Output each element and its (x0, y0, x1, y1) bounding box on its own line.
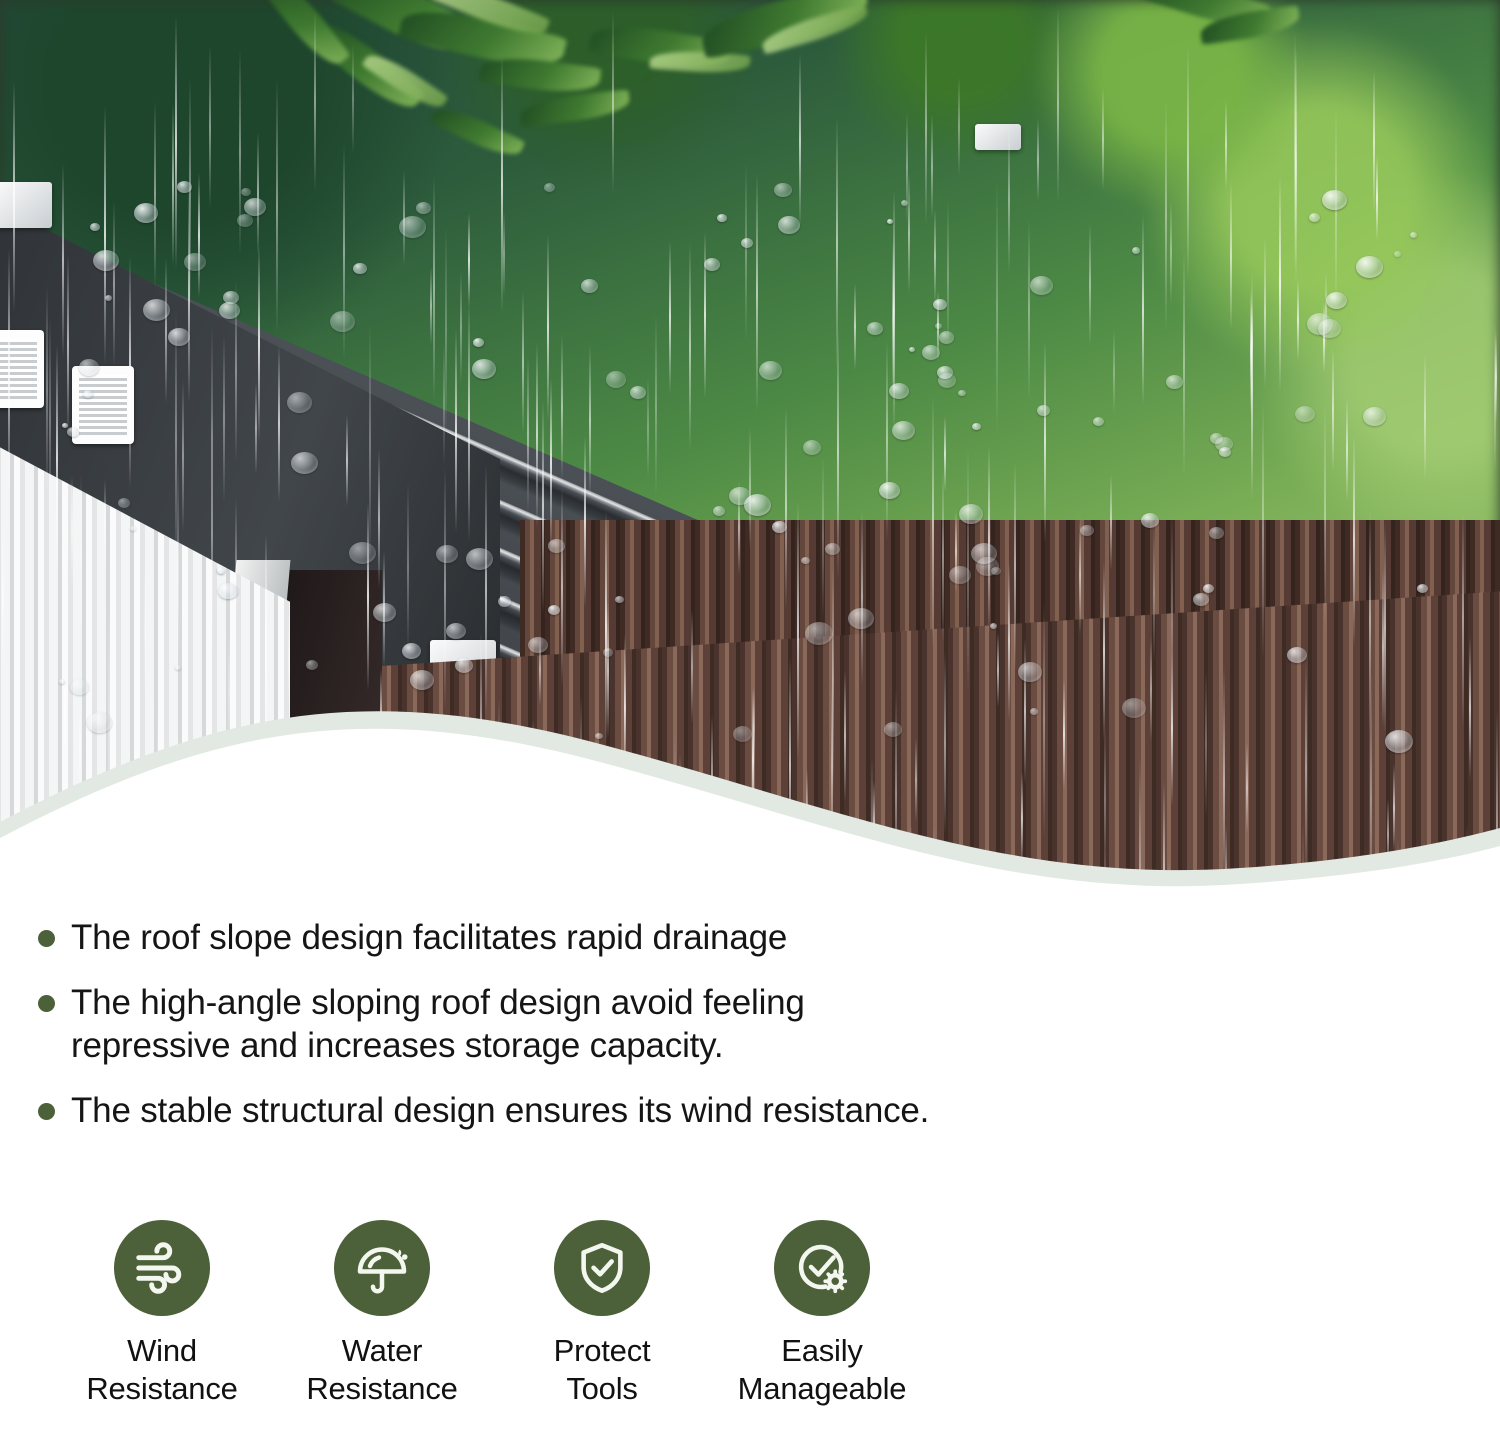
feature-label: Protect Tools (554, 1332, 651, 1408)
roof-corner-cap (0, 182, 52, 228)
bullet-text: The high-angle sloping roof design avoid… (71, 981, 968, 1067)
shield-check-icon (554, 1220, 650, 1316)
feature-label-line2: Tools (554, 1370, 651, 1408)
umbrella-icon (334, 1220, 430, 1316)
content-section: The roof slope design facilitates rapid … (0, 890, 1500, 1433)
feature-label-line1: Easily (738, 1332, 907, 1370)
roof-corner-cap (975, 124, 1021, 150)
feature-label: Wind Resistance (86, 1332, 237, 1408)
feature-label: Water Resistance (306, 1332, 457, 1408)
feature-label: Easily Manageable (738, 1332, 907, 1408)
bullet-text: The roof slope design facilitates rapid … (71, 916, 787, 959)
feature-badge-manageable: Easily Manageable (712, 1220, 932, 1408)
feature-badge-water: Water Resistance (272, 1220, 492, 1408)
feature-label-line1: Wind (86, 1332, 237, 1370)
wind-icon (114, 1220, 210, 1316)
feature-label-line2: Resistance (306, 1370, 457, 1408)
feature-badge-protect: Protect Tools (492, 1220, 712, 1408)
bullet-dot-icon (38, 995, 55, 1012)
feature-label-line1: Protect (554, 1332, 651, 1370)
feature-label-line2: Manageable (738, 1370, 907, 1408)
bullet-text: The stable structural design ensures its… (71, 1089, 929, 1132)
bullet-dot-icon (38, 1103, 55, 1120)
hero-photo (0, 0, 1500, 900)
feature-bullet-list: The roof slope design facilitates rapid … (38, 916, 968, 1154)
list-item: The stable structural design ensures its… (38, 1089, 968, 1132)
list-item: The roof slope design facilitates rapid … (38, 916, 968, 959)
feature-label-line2: Resistance (86, 1370, 237, 1408)
gear-check-icon (774, 1220, 870, 1316)
gable-vent-icon (0, 330, 44, 408)
wave-divider (0, 672, 1500, 900)
feature-badge-row: Wind Resistance Water Res (52, 1220, 932, 1408)
bullet-dot-icon (38, 930, 55, 947)
gable-vent-icon (72, 366, 134, 444)
feature-label-line1: Water (306, 1332, 457, 1370)
feature-badge-wind: Wind Resistance (52, 1220, 272, 1408)
product-marketing-image: The roof slope design facilitates rapid … (0, 0, 1500, 1433)
list-item: The high-angle sloping roof design avoid… (38, 981, 968, 1067)
